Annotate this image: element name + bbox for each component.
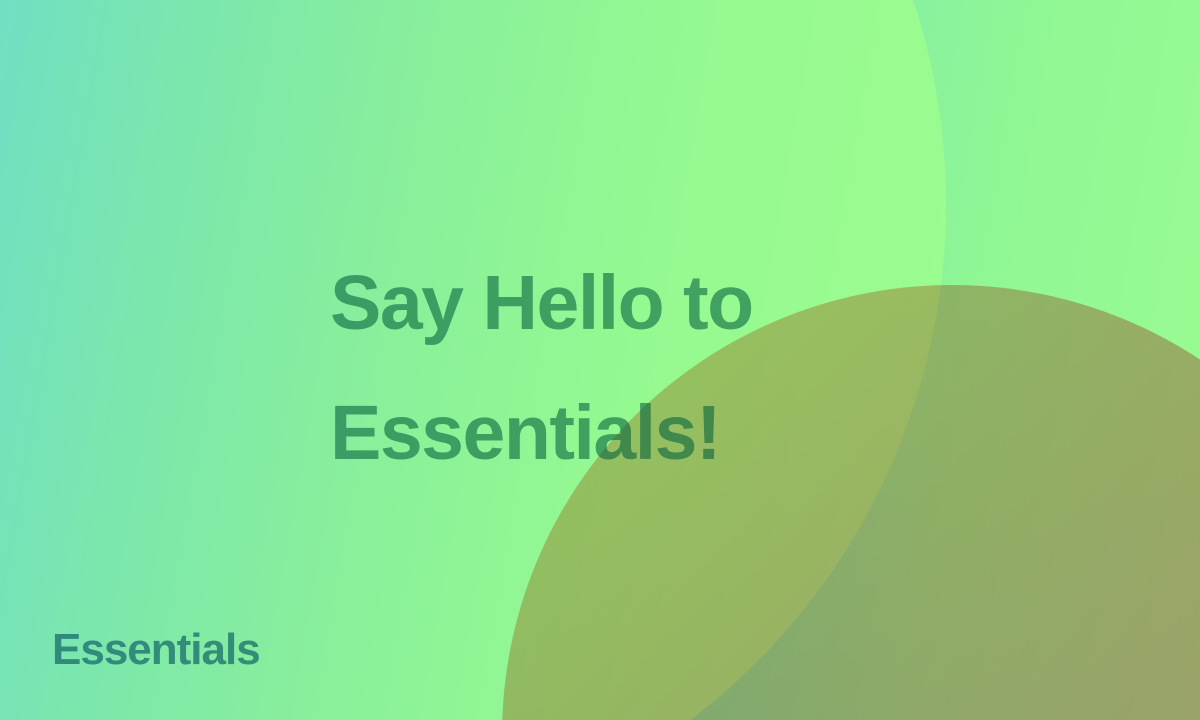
slide-canvas: Say Hello to Essentials! Essentials	[0, 0, 1200, 720]
brand-logo-wordmark: Essentials	[52, 622, 260, 678]
